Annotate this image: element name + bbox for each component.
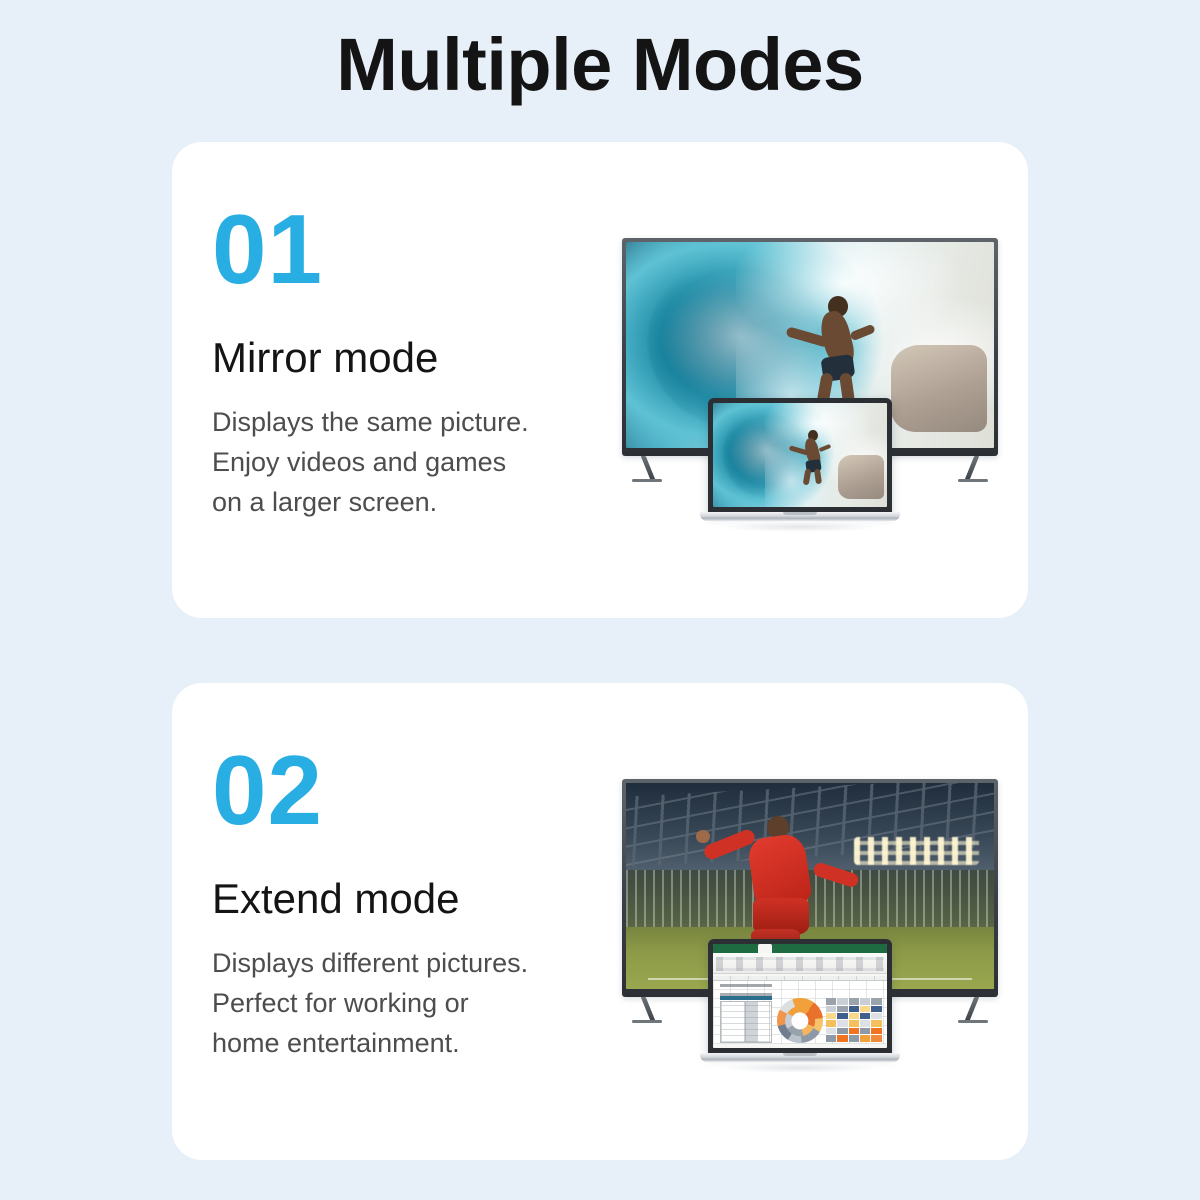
mode-card-extend: 02 Extend mode Displays different pictur… <box>172 683 1028 1160</box>
spreadsheet-titlebar <box>713 944 887 953</box>
shore-rock <box>838 455 883 499</box>
ribbon-icons <box>716 957 883 971</box>
heatmap-cell <box>849 1013 859 1019</box>
mode-title-extend: Extend mode <box>212 877 592 921</box>
heatmap-cell <box>860 1020 870 1026</box>
heatmap-cell <box>860 1028 870 1034</box>
device-shadow <box>720 1063 880 1073</box>
heatmap-cell <box>837 998 847 1004</box>
heatmap-cell <box>837 1006 847 1012</box>
spreadsheet-ribbon <box>713 953 887 974</box>
heatmap-cell <box>837 1020 847 1026</box>
heatmap-cell <box>860 1013 870 1019</box>
mirror-media-column <box>604 238 982 528</box>
donut-chart <box>777 998 822 1043</box>
player-jersey <box>747 832 813 908</box>
spreadsheet-active-tab <box>758 944 772 953</box>
surfer-arm-right <box>849 323 875 340</box>
laptop-screen-spreadsheet <box>713 944 887 1048</box>
spreadsheet-data-table <box>720 1001 772 1043</box>
heatmap-cell <box>871 998 881 1004</box>
heatmap-cell <box>837 1035 847 1041</box>
heatmap-chart <box>826 998 882 1042</box>
step-number-02: 02 <box>212 745 592 835</box>
heatmap-cell <box>826 998 836 1004</box>
heatmap-cell <box>860 1035 870 1041</box>
mirror-text-column: 01 Mirror mode Displays the same picture… <box>212 204 592 522</box>
mode-title-mirror: Mirror mode <box>212 336 592 380</box>
device-shadow <box>720 522 880 532</box>
laptop-mirror <box>700 398 900 526</box>
surfer-arm-right <box>818 444 831 452</box>
tv-foot-right <box>958 479 988 482</box>
heatmap-cell <box>860 998 870 1004</box>
heatmap-cell <box>826 1006 836 1012</box>
heatmap-cell <box>826 1020 836 1026</box>
heatmap-cell <box>849 1020 859 1026</box>
page-title: Multiple Modes <box>0 28 1200 102</box>
heatmap-cell <box>849 998 859 1004</box>
heatmap-cell <box>826 1035 836 1041</box>
surf-scene-image-mirrored <box>713 403 887 507</box>
mode-description-mirror: Displays the same picture. Enjoy videos … <box>212 402 592 522</box>
laptop-extend <box>700 939 900 1067</box>
tv-foot-right <box>958 1020 988 1023</box>
laptop-base <box>700 1053 900 1062</box>
surfer-leg-left <box>803 469 811 486</box>
heatmap-cell <box>849 1035 859 1041</box>
laptop-lid <box>708 398 892 514</box>
surfer-figure <box>797 430 832 484</box>
mode-description-extend: Displays different pictures. Perfect for… <box>212 943 592 1063</box>
laptop-lid <box>708 939 892 1055</box>
spreadsheet-dashboard-image <box>713 944 887 1048</box>
heatmap-cell <box>871 1035 881 1041</box>
laptop-screen-surf <box>713 403 887 507</box>
spreadsheet-text-labels <box>720 984 772 996</box>
heatmap-cell <box>826 1028 836 1034</box>
heatmap-cell <box>837 1013 847 1019</box>
mode-card-mirror: 01 Mirror mode Displays the same picture… <box>172 142 1028 618</box>
shore-rock <box>891 345 987 432</box>
surfer-leg-right <box>814 469 822 485</box>
step-number-01: 01 <box>212 204 592 294</box>
heatmap-cell <box>871 1028 881 1034</box>
extend-media-column <box>604 779 982 1069</box>
heatmap-cell <box>871 1013 881 1019</box>
product-feature-page: Multiple Modes 01 Mirror mode Displays t… <box>0 0 1200 1200</box>
tv-foot-left <box>632 479 662 482</box>
laptop-base <box>700 512 900 521</box>
heatmap-cell <box>849 1028 859 1034</box>
stadium-floodlights <box>854 837 979 866</box>
laptop-notch <box>783 512 817 515</box>
heatmap-cell <box>860 1006 870 1012</box>
spreadsheet-header-band <box>720 996 772 1000</box>
heatmap-cell <box>826 1013 836 1019</box>
surfer-figure <box>803 296 877 403</box>
heatmap-cell <box>849 1006 859 1012</box>
extend-text-column: 02 Extend mode Displays different pictur… <box>212 745 592 1063</box>
heatmap-cell <box>871 1020 881 1026</box>
laptop-notch <box>783 1053 817 1056</box>
tv-foot-left <box>632 1020 662 1023</box>
heatmap-cell <box>837 1028 847 1034</box>
heatmap-cell <box>871 1006 881 1012</box>
table-highlight-column <box>744 1002 758 1042</box>
